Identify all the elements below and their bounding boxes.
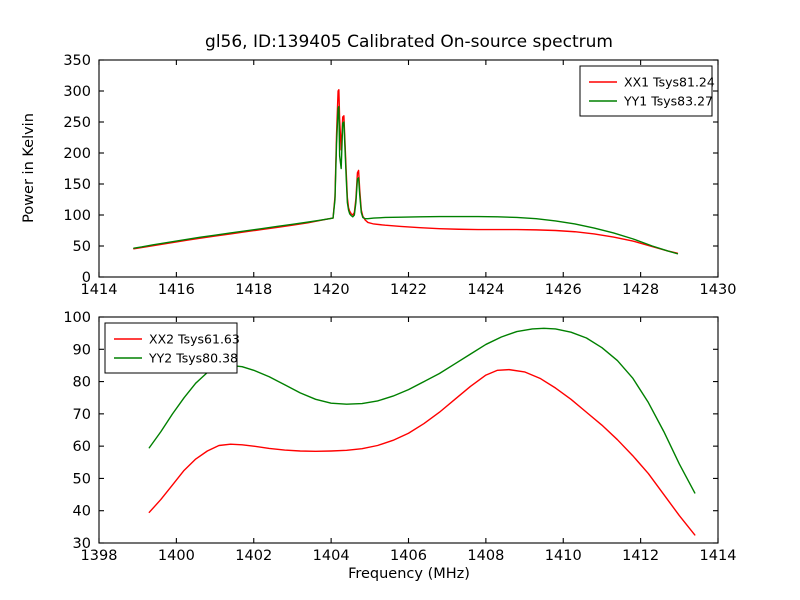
bottom-panel-x-tick-label: 1408: [467, 548, 504, 564]
bottom-panel-y-tick-label: 40: [73, 504, 91, 520]
bottom-panel-x-tick-label: 1402: [235, 548, 272, 564]
top-panel-legend-label: XX1 Tsys81.24: [624, 75, 715, 90]
bottom-panel-x-tick-label: 1410: [545, 548, 582, 564]
top-panel-x-tick-label: 1416: [158, 282, 195, 298]
top-panel-y-tick-label: 50: [73, 239, 91, 255]
bottom-panel-x-tick-label: 1406: [390, 548, 427, 564]
top-panel-x-tick-label: 1418: [235, 282, 272, 298]
top-panel-y-tick-label: 150: [63, 177, 91, 193]
bottom-panel-x-tick-label: 1412: [622, 548, 659, 564]
spectrum-figure: gl56, ID:139405 Calibrated On-source spe…: [0, 0, 800, 600]
top-panel-x-tick-label: 1426: [545, 282, 582, 298]
top-panel-x-tick-label: 1424: [467, 282, 504, 298]
top-panel-x-tick-label: 1428: [622, 282, 659, 298]
top-panel-x-tick-label: 1422: [390, 282, 427, 298]
top-panel-x-tick-label: 1420: [313, 282, 350, 298]
bottom-panel-legend: XX2 Tsys61.63YY2 Tsys80.38: [105, 323, 240, 373]
bottom-panel-y-tick-label: 100: [63, 310, 91, 326]
top-panel-legend-box: [580, 66, 712, 116]
bottom-panel-y-tick-label: 60: [73, 439, 91, 455]
bottom-panel-legend-label: YY2 Tsys80.38: [148, 351, 238, 366]
top-panel-y-tick-label: 100: [63, 208, 91, 224]
bottom-panel-x-tick-label: 1414: [700, 548, 737, 564]
page-title: gl56, ID:139405 Calibrated On-source spe…: [205, 32, 613, 52]
bottom-panel-legend-label: XX2 Tsys61.63: [149, 332, 240, 347]
bottom-panel-x-tick-label: 1404: [313, 548, 350, 564]
bottom-panel-y-tick-label: 30: [73, 536, 91, 552]
bottom-panel-y-tick-label: 70: [73, 407, 91, 423]
top-panel-x-tick-label: 1430: [700, 282, 737, 298]
bottom-panel-legend-box: [105, 323, 237, 373]
bottom-panel-y-tick-label: 90: [73, 342, 91, 358]
top-panel-y-axis-label: Power in Kelvin: [21, 113, 37, 223]
top-panel-y-tick-label: 250: [63, 115, 91, 131]
bottom-panel-x-tick-label: 1400: [158, 548, 195, 564]
top-panel-y-tick-label: 200: [63, 146, 91, 162]
top-panel-y-tick-label: 350: [63, 53, 91, 69]
top-panel-legend-label: YY1 Tsys83.27: [623, 94, 713, 109]
bottom-panel-x-axis-label: Frequency (MHz): [348, 566, 470, 582]
bottom-panel-y-tick-label: 80: [73, 375, 91, 391]
top-panel-y-tick-label: 300: [63, 84, 91, 100]
bottom-panel-y-tick-label: 50: [73, 471, 91, 487]
top-panel-legend: XX1 Tsys81.24YY1 Tsys83.27: [580, 66, 715, 116]
top-panel-y-tick-label: 0: [82, 270, 91, 286]
